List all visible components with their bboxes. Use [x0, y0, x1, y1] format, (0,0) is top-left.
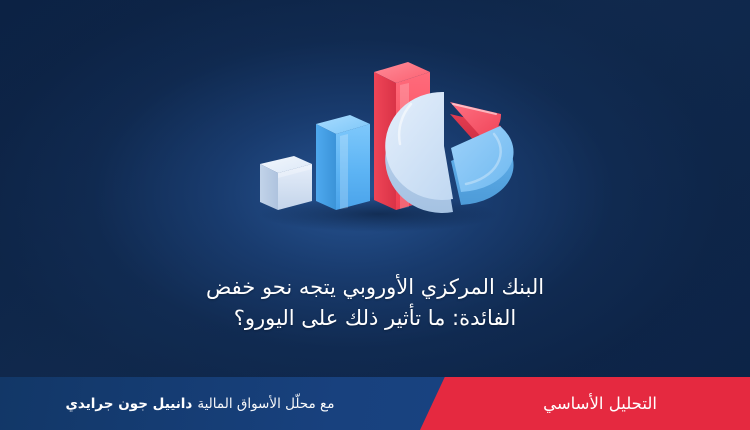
headline-line-1: البنك المركزي الأوروبي يتجه نحو خفض [60, 272, 690, 303]
category-label: التحليل الأساسي [450, 377, 750, 430]
bar-2-blue [316, 115, 370, 210]
analyst-name: دانييل جون جرايدي [66, 396, 193, 412]
pie-chart [385, 92, 513, 213]
bar-1-pale [260, 156, 312, 210]
footer-bar: مع محلّل الأسواق المالية دانييل جون جراي… [0, 377, 750, 430]
headline: البنك المركزي الأوروبي يتجه نحو خفض الفا… [0, 272, 750, 334]
news-banner: البنك المركزي الأوروبي يتجه نحو خفض الفا… [0, 0, 750, 430]
chart-illustration [248, 52, 518, 232]
headline-line-2: الفائدة: ما تأثير ذلك على اليورو؟ [60, 303, 690, 334]
analyst-credit: مع محلّل الأسواق المالية دانييل جون جراي… [0, 377, 400, 430]
analyst-credit-prefix: مع محلّل الأسواق المالية [197, 396, 334, 412]
pie-slice-blue [451, 126, 514, 205]
